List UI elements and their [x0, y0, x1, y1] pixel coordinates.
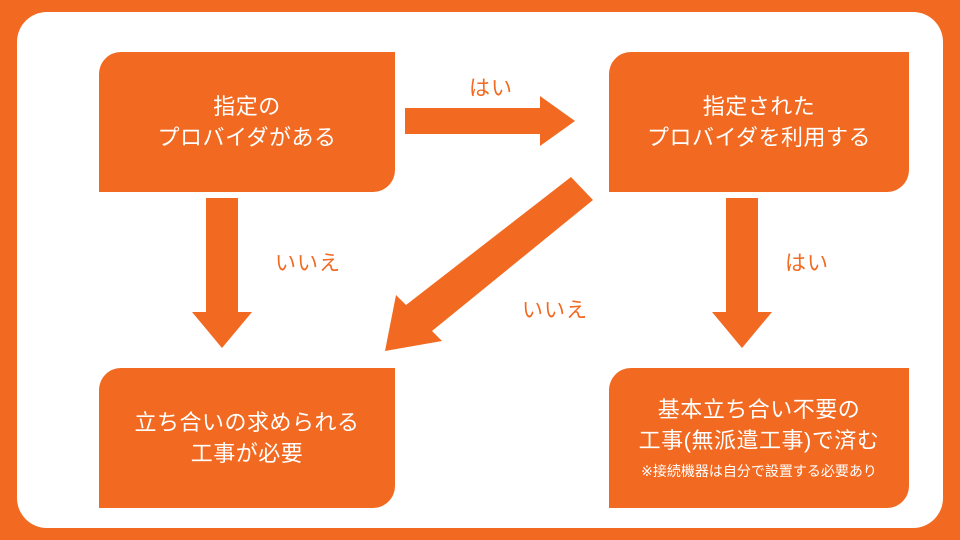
node-no-onsite-work[interactable]: 基本立ち合い不要の 工事(無派遣工事)で済む ※接続機器は自分で設置する必要あり: [609, 368, 909, 508]
node-provider-specified-line-1: 指定の: [213, 91, 281, 122]
node-use-specified-provider-line-1: 指定された: [703, 91, 816, 122]
node-no-onsite-work-note: ※接続機器は自分で設置する必要あり: [641, 462, 877, 482]
node-no-onsite-work-line-1: 基本立ち合い不要の: [658, 394, 861, 425]
edge-label-yes-right: はい: [785, 247, 829, 277]
node-onsite-work-required[interactable]: 立ち合いの求められる 工事が必要: [99, 368, 395, 508]
node-use-specified-provider-line-2: プロバイダを利用する: [647, 122, 871, 153]
edge-label-no-left: いいえ: [275, 247, 341, 277]
node-provider-specified-line-2: プロバイダがある: [157, 122, 336, 153]
node-onsite-work-required-line-2: 工事が必要: [191, 438, 304, 469]
flowchart-panel: 指定の プロバイダがある 指定された プロバイダを利用する 立ち合いの求められる…: [17, 12, 943, 528]
arrow-no-left: [192, 198, 252, 348]
arrow-yes-right: [712, 198, 772, 348]
node-onsite-work-required-line-1: 立ち合いの求められる: [134, 407, 359, 438]
edge-label-no-diagonal: いいえ: [522, 294, 588, 324]
node-no-onsite-work-line-2: 工事(無派遣工事)で済む: [639, 425, 880, 456]
arrow-yes-top: [405, 96, 575, 146]
flowchart-canvas: 指定の プロバイダがある 指定された プロバイダを利用する 立ち合いの求められる…: [0, 0, 960, 540]
node-use-specified-provider[interactable]: 指定された プロバイダを利用する: [609, 52, 909, 192]
arrow-no-diagonal: [385, 177, 593, 351]
edge-label-yes-top: はい: [469, 72, 513, 102]
node-provider-specified[interactable]: 指定の プロバイダがある: [99, 52, 395, 192]
